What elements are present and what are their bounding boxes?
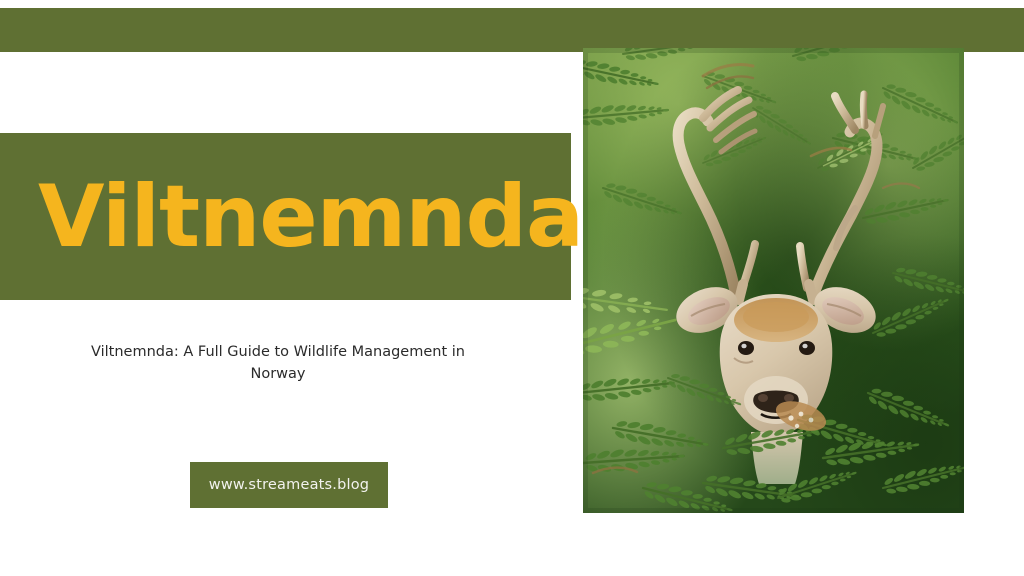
page-title: Viltnemnda	[38, 152, 558, 282]
blog-header-banner: Viltnemnda Viltnemnda: A Full Guide to W…	[0, 0, 1024, 576]
deer-in-ferns-photo	[583, 48, 964, 513]
page-subtitle: Viltnemnda: A Full Guide to Wildlife Man…	[78, 341, 478, 386]
website-url-label: www.streameats.blog	[209, 477, 369, 493]
website-url-badge[interactable]: www.streameats.blog	[190, 462, 388, 508]
top-accent-bar	[0, 8, 1024, 52]
deer-photo-illustration	[583, 48, 964, 513]
